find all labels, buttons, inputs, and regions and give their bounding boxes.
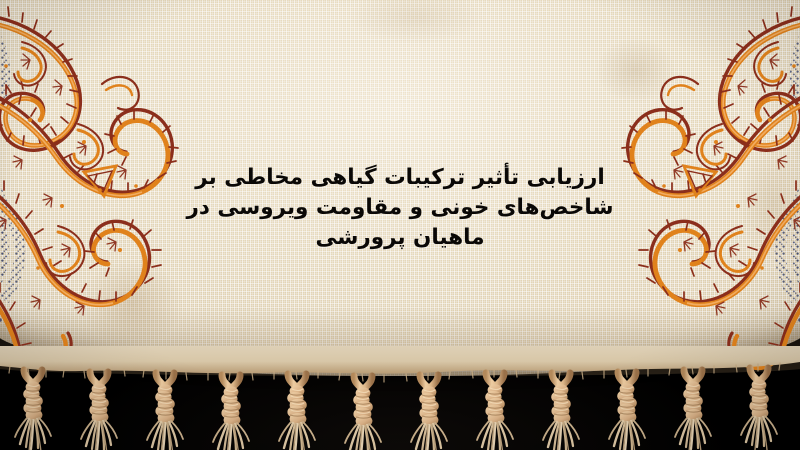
title-line-3: ماهیان پرورشی xyxy=(0,223,800,253)
title-block: ارزیابی تأثیر ترکیبات گیاهی مخاطی بر شاخ… xyxy=(0,163,800,253)
title-card-stage: ارزیابی تأثیر ترکیبات گیاهی مخاطی بر شاخ… xyxy=(0,0,800,450)
title-line-2: شاخص‌های خونی و مقاومت ویروسی در xyxy=(0,193,800,223)
title-line-1: ارزیابی تأثیر ترکیبات گیاهی مخاطی بر xyxy=(0,163,800,193)
